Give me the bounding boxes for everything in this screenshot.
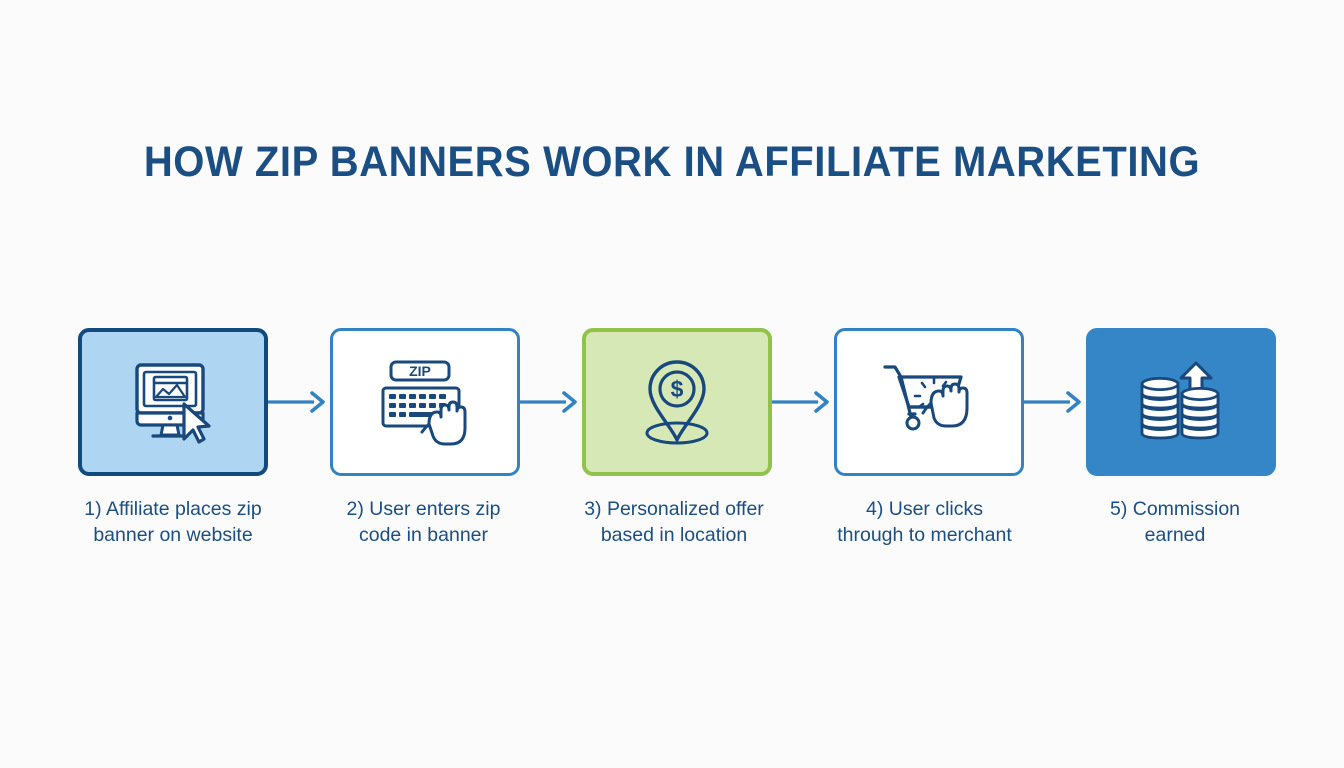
step-caption-1: 1) Affiliate places zip banner on websit… [78, 496, 268, 596]
step-caption-5: 5) Commission earned [1080, 496, 1270, 596]
step-card-2[interactable]: ZIP [330, 328, 520, 476]
step-caption-3: 3) Personalized offer based in location [579, 496, 769, 596]
caption-spacer [519, 496, 580, 596]
infographic-canvas: HOW ZIP BANNERS WORK IN AFFILIATE MARKET… [0, 0, 1344, 768]
flow-arrow-1 [268, 390, 330, 414]
flow-arrow-2 [520, 390, 582, 414]
zip-icon-label: ZIP [409, 363, 431, 379]
flow-arrow-3 [772, 390, 834, 414]
caption-spacer [1020, 496, 1081, 596]
step-caption-4: 4) User clicks through to merchant [830, 496, 1020, 596]
step-card-1[interactable] [78, 328, 268, 476]
caption-spacer [769, 496, 830, 596]
keyboard-zip-hand-icon: ZIP [373, 358, 477, 446]
step-captions: 1) Affiliate places zip banner on websit… [78, 496, 1270, 596]
step-caption-2: 2) User enters zip code in banner [329, 496, 519, 596]
caption-spacer [268, 496, 329, 596]
flow-arrow-4 [1024, 390, 1086, 414]
location-pin-dollar-icon: $ [631, 356, 723, 448]
dollar-sign-label: $ [671, 376, 684, 402]
monitor-banner-cursor-icon [125, 359, 221, 445]
step-card-5[interactable] [1086, 328, 1276, 476]
step-card-3[interactable]: $ [582, 328, 772, 476]
step-card-4[interactable] [834, 328, 1024, 476]
coin-stacks-up-arrow-icon [1134, 358, 1228, 446]
shopping-cart-click-hand-icon [879, 359, 979, 445]
page-title: HOW ZIP BANNERS WORK IN AFFILIATE MARKET… [47, 138, 1297, 187]
process-flow: ZIP [78, 326, 1270, 478]
